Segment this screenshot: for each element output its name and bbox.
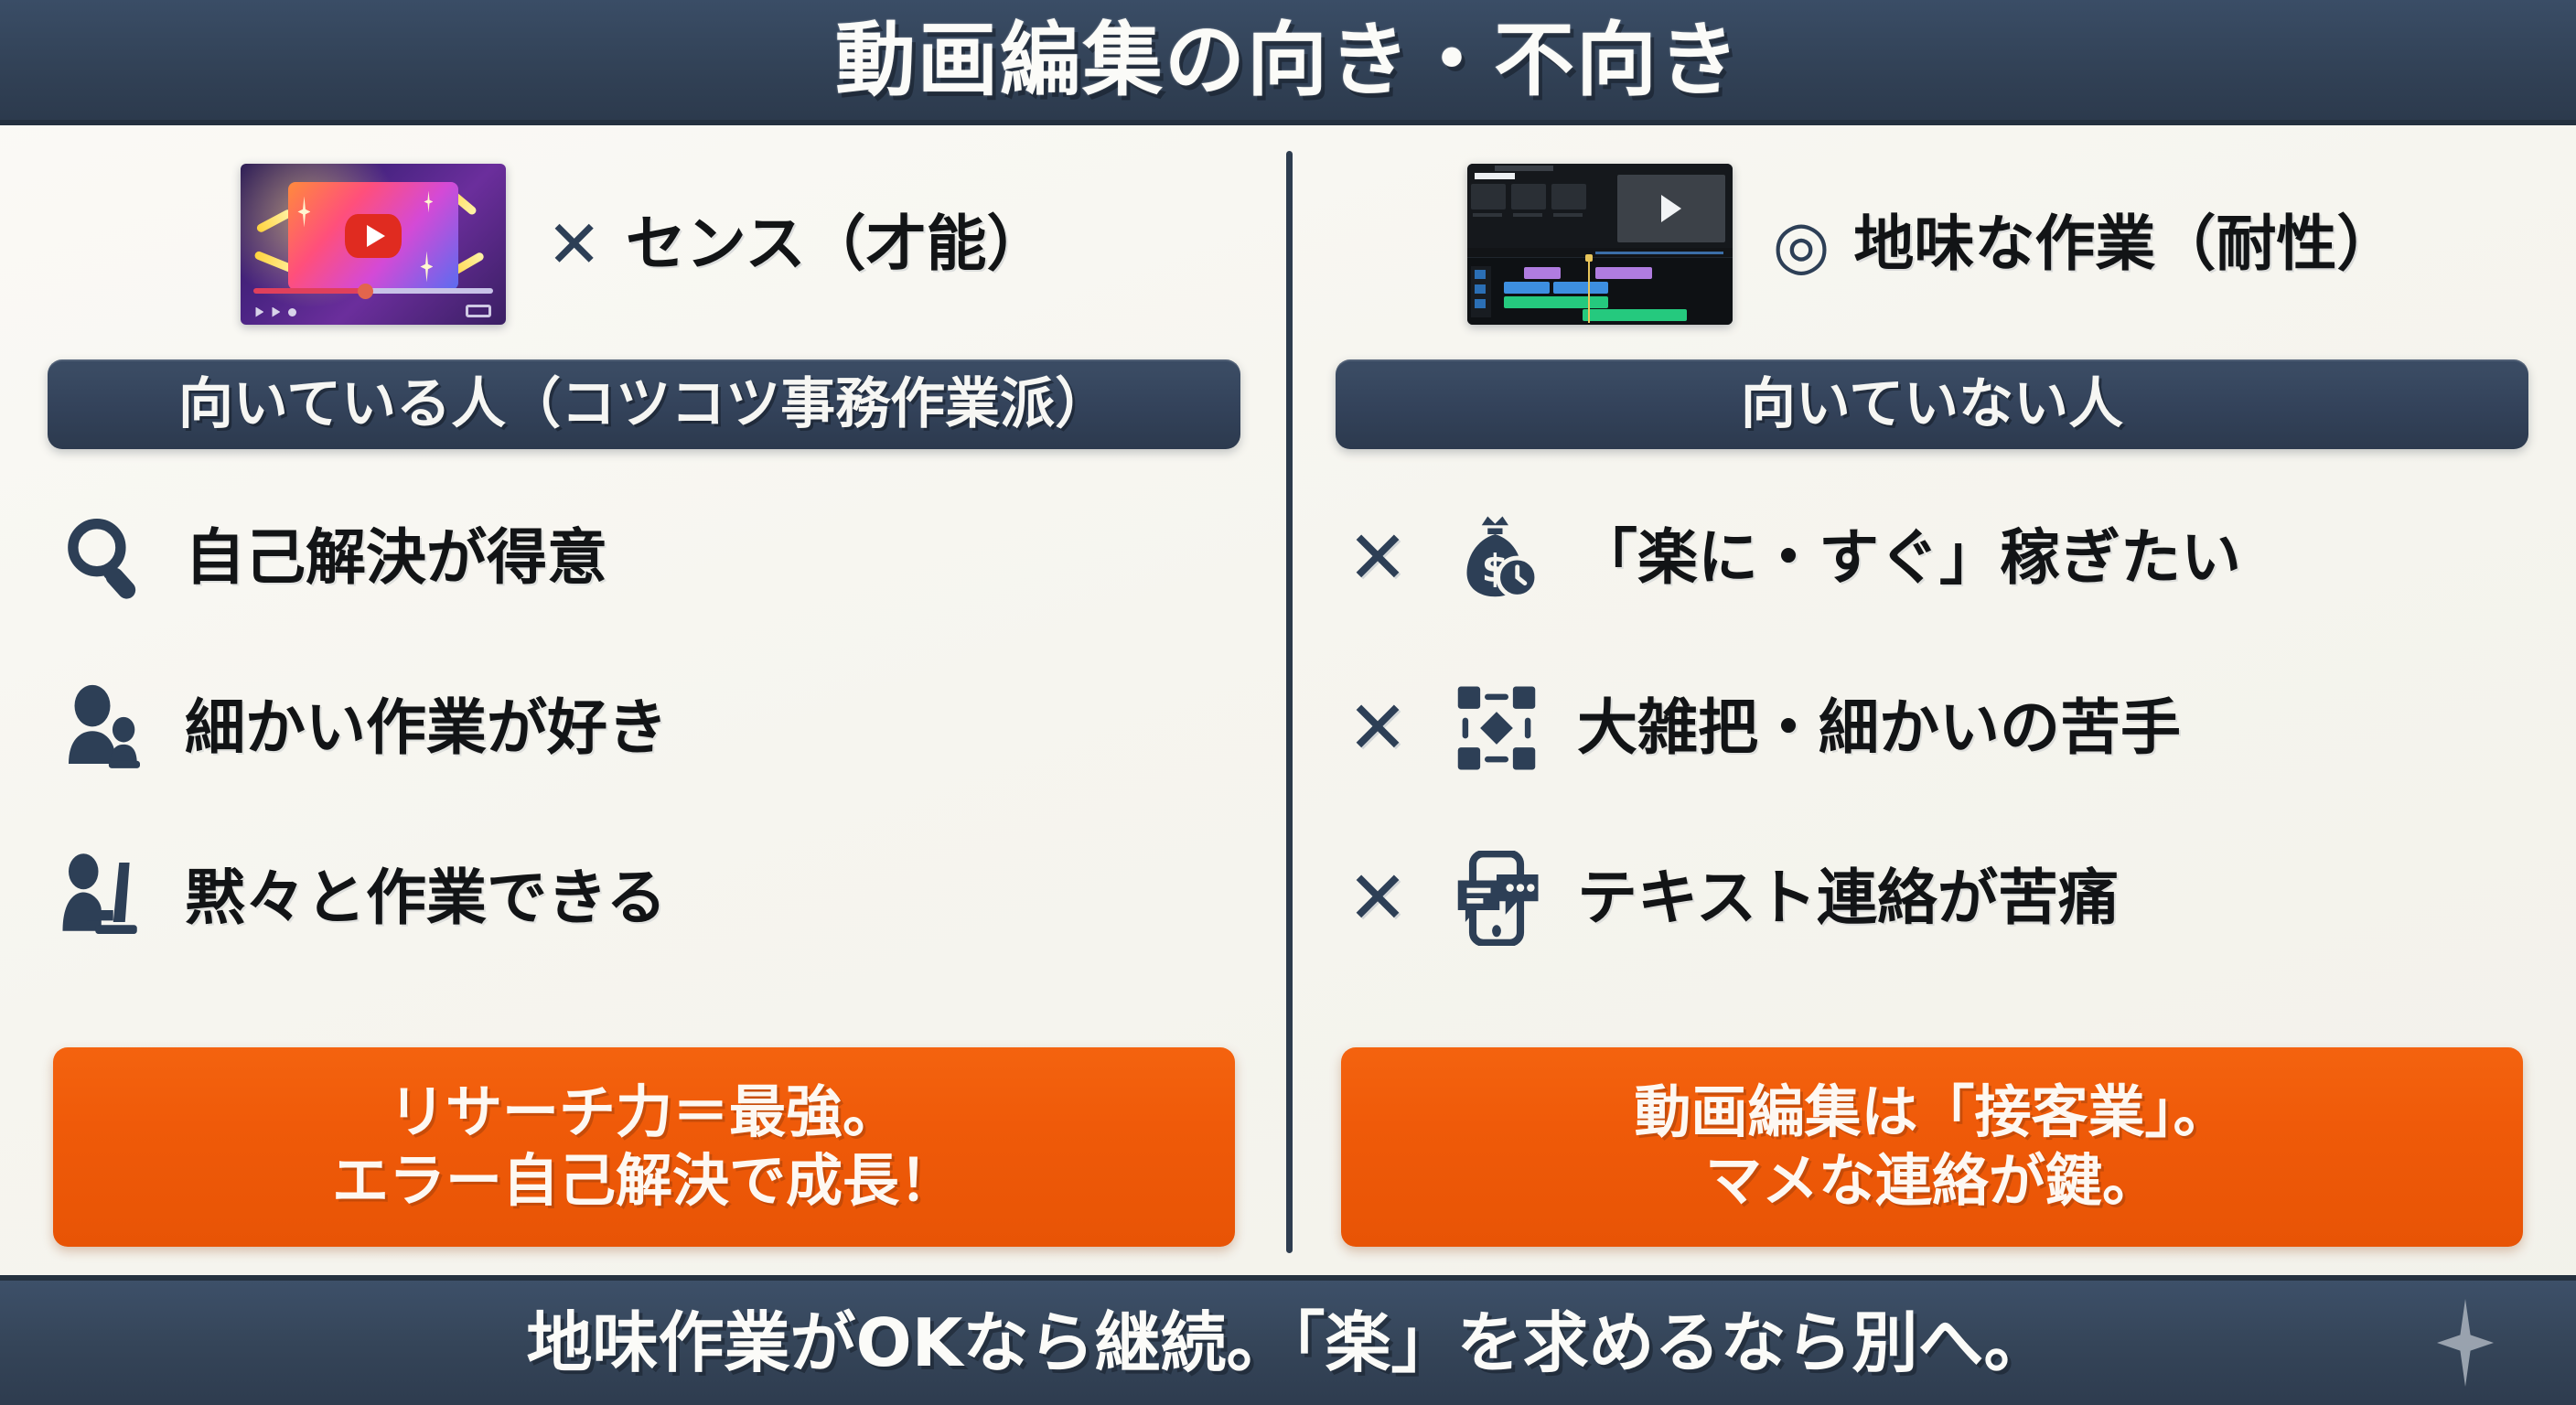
left-caption-text: センス（才能） xyxy=(626,214,1047,274)
page-title: 動画編集の向き・不向き xyxy=(835,20,1741,101)
cross-mark-icon: ✕ xyxy=(1339,521,1416,595)
phone-chat-icon xyxy=(1444,845,1550,951)
footer-text: 地味作業がOKなら継続。「楽」を求めるなら別へ。 xyxy=(526,1310,2049,1376)
list-item-label: 「楽に・すぐ」稼ぎたい xyxy=(1577,528,2241,588)
editor-bin-label xyxy=(1513,213,1542,217)
playhead xyxy=(1588,259,1590,323)
list-item-label: 大雑把・細かいの苦手 xyxy=(1577,698,2181,758)
editor-media-bin xyxy=(1551,184,1586,209)
footer-bar: 地味作業がOKなら継続。「楽」を求めるなら別へ。 xyxy=(0,1275,2576,1405)
not-suited-list: ✕ $ 「楽に・すぐ」稼ぎたい ✕ xyxy=(1339,473,2528,983)
callout-line: エラー自己解決で成長！ xyxy=(332,1151,956,1212)
timeline-clip xyxy=(1504,296,1608,308)
fullscreen-icon xyxy=(466,305,491,317)
callout-line: リサーチ力＝最強。 xyxy=(389,1082,899,1143)
play-icon xyxy=(1661,195,1681,222)
timeline-clip xyxy=(1504,282,1550,294)
right-caption-text: 地味な作業（耐性） xyxy=(1853,214,2397,274)
callout-not-suited: 動画編集は「接客業」。 マメな連絡が鍵。 xyxy=(1341,1047,2523,1247)
play-button-icon xyxy=(345,214,402,258)
timeline-clip xyxy=(1553,282,1608,294)
left-top-row: ✕ センス（才能） xyxy=(0,145,1288,342)
right-caption: ◎ 地味な作業（耐性） xyxy=(1773,211,2398,277)
thumbnail-screen xyxy=(288,182,458,290)
editor-menu-label xyxy=(1475,173,1515,179)
column-not-suited: ◎ 地味な作業（耐性） 向いていない人 ✕ $ xyxy=(1288,125,2576,1275)
section-header-label: 向いていない人 xyxy=(1741,377,2123,432)
player-controls xyxy=(255,307,296,317)
list-item: ✕ テキスト連 xyxy=(1339,813,2528,983)
editor-media-bin xyxy=(1511,184,1546,209)
section-header-label: 向いている人（コツコツ事務作業派） xyxy=(178,377,1110,432)
progress-knob xyxy=(358,284,373,299)
editor-track-header xyxy=(1475,284,1486,294)
list-item: ✕ $ 「楽に・すぐ」稼ぎたい xyxy=(1339,473,2528,643)
sparkle-icon xyxy=(2437,1299,2494,1387)
next-icon xyxy=(272,307,280,317)
editor-scrubber xyxy=(1595,252,1723,254)
editor-preview xyxy=(1617,175,1725,242)
magnifier-icon xyxy=(51,505,157,611)
callout-line: マメな連絡が鍵。 xyxy=(1705,1151,2159,1212)
person-at-desk-icon xyxy=(51,845,157,951)
editor-bin-label xyxy=(1473,213,1502,217)
right-top-row: ◎ 地味な作業（耐性） xyxy=(1288,145,2576,342)
list-item: 黙々と作業できる xyxy=(51,813,1240,983)
timeline-clip xyxy=(1595,267,1652,279)
list-item: ✕ 大雑把・細 xyxy=(1339,643,2528,813)
editor-bin-label xyxy=(1553,213,1583,217)
editor-timeline xyxy=(1467,257,1733,325)
editor-track-header xyxy=(1475,270,1486,279)
section-header-suited: 向いている人（コツコツ事務作業派） xyxy=(48,359,1240,449)
callout-suited: リサーチ力＝最強。 エラー自己解決で成長！ xyxy=(53,1047,1235,1247)
suited-list: 自己解決が得意 細かい作業が好き xyxy=(51,473,1240,983)
editor-toolbar xyxy=(1495,166,1553,171)
timeline-clip xyxy=(1583,309,1687,321)
two-people-icon xyxy=(51,675,157,781)
editor-track-header xyxy=(1475,299,1486,308)
list-item-label: 黙々と作業できる xyxy=(185,868,667,928)
list-item: 細かい作業が好き xyxy=(51,643,1240,813)
double-circle-icon: ◎ xyxy=(1773,211,1830,277)
header-bar: 動画編集の向き・不向き xyxy=(0,0,2576,125)
list-item-label: テキスト連絡が苦痛 xyxy=(1577,868,2119,928)
left-caption: ✕ センス（才能） xyxy=(546,211,1046,277)
video-thumbnail-colorful xyxy=(241,164,506,325)
timeline-clip xyxy=(1524,267,1561,279)
column-suited: ✕ センス（才能） 向いている人（コツコツ事務作業派） 自己 xyxy=(0,125,1288,1275)
volume-icon xyxy=(288,308,296,316)
section-header-not-suited: 向いていない人 xyxy=(1336,359,2528,449)
crop-resize-icon xyxy=(1444,675,1550,781)
progress-bar xyxy=(253,288,493,294)
cross-mark-icon: ✕ xyxy=(1339,692,1416,765)
editor-top-panel xyxy=(1467,164,1733,248)
editor-media-bin xyxy=(1471,184,1506,209)
list-item: 自己解決が得意 xyxy=(51,473,1240,643)
cross-mark-icon: ✕ xyxy=(1339,862,1416,935)
video-editor-timeline xyxy=(1467,164,1733,325)
money-bag-clock-icon: $ xyxy=(1444,505,1550,611)
list-item-label: 自己解決が得意 xyxy=(185,528,607,588)
slide-root: 動画編集の向き・不向き xyxy=(0,0,2576,1405)
list-item-label: 細かい作業が好き xyxy=(185,698,668,758)
callout-line: 動画編集は「接客業」。 xyxy=(1634,1082,2229,1143)
cross-mark-icon: ✕ xyxy=(546,211,601,277)
body-area: ✕ センス（才能） 向いている人（コツコツ事務作業派） 自己 xyxy=(0,125,2576,1275)
play-icon xyxy=(255,307,263,317)
